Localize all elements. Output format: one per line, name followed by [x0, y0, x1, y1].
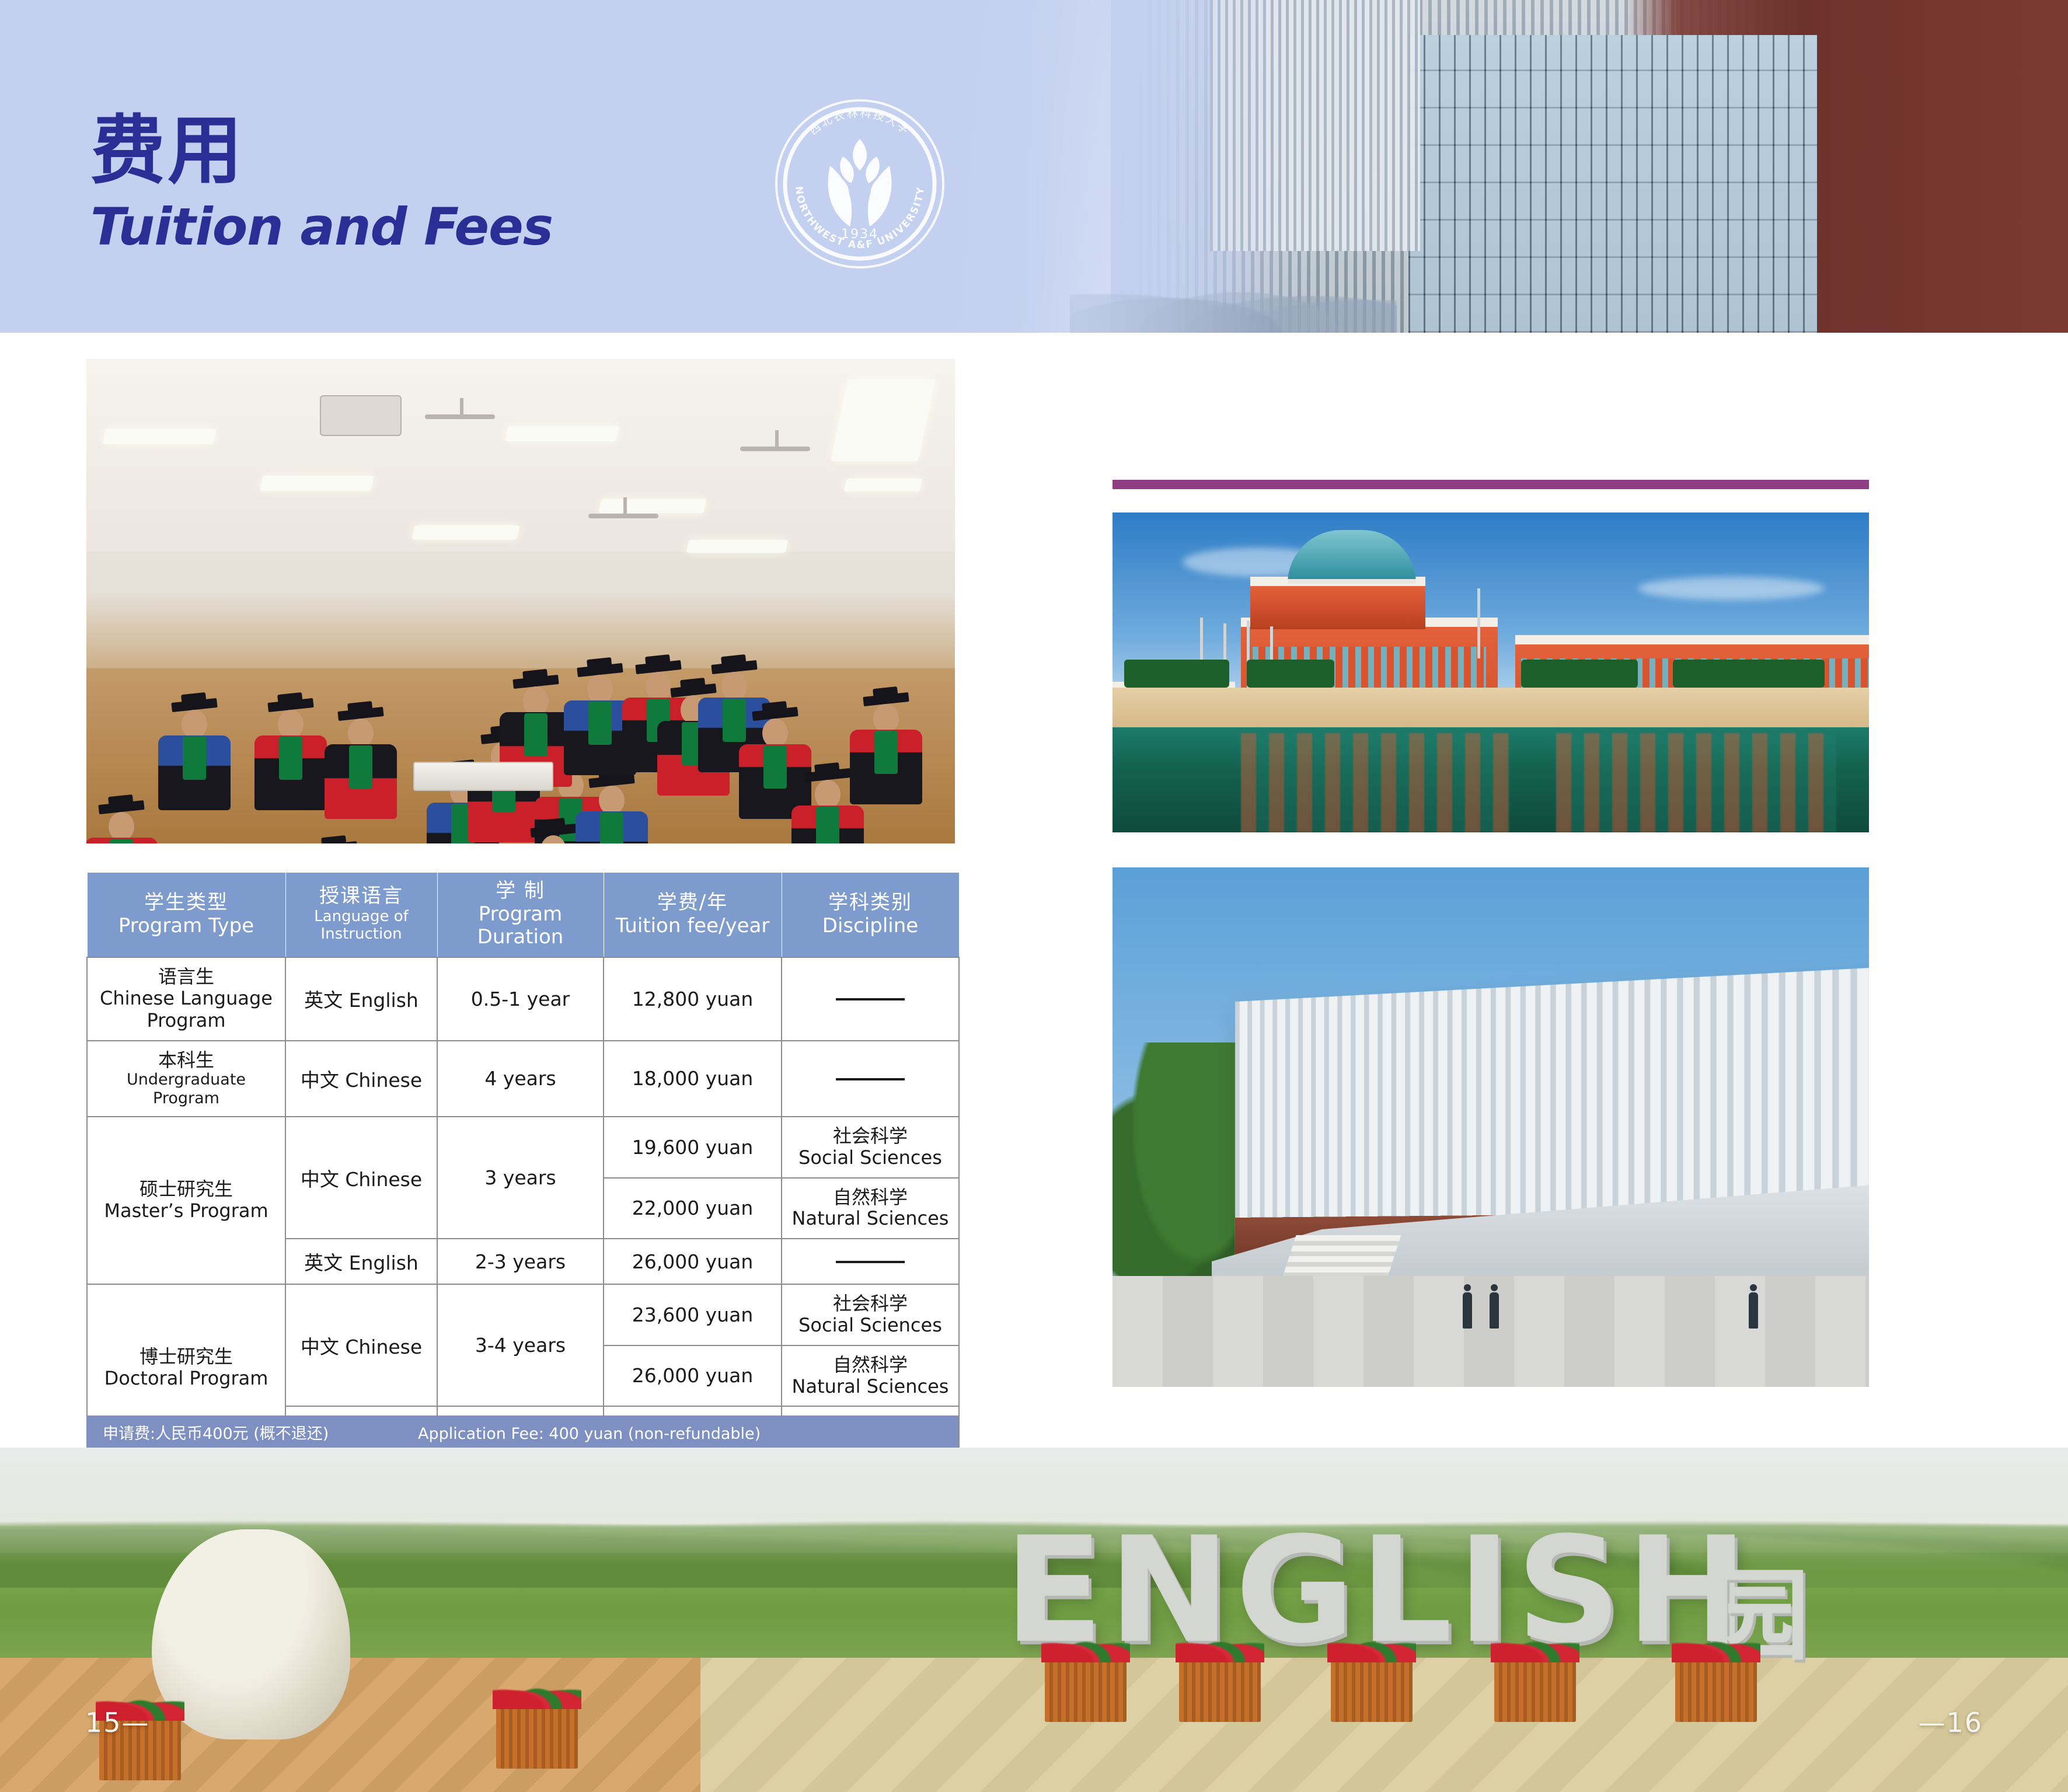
tuition-fee-table: 学生类型 Program Type 授课语言 Language of Instr… — [86, 872, 960, 1452]
table-row: 博士研究生 Doctoral Program 中文 Chinese 3-4 ye… — [87, 1284, 959, 1345]
empty-dash-icon — [836, 998, 905, 1000]
flower-planter — [1331, 1659, 1413, 1722]
page-number-right: —16 — [1918, 1707, 1983, 1738]
discipline-cn: 社会科学 — [786, 1125, 955, 1147]
header-en: Program Type — [90, 915, 283, 937]
program-type-cn: 语言生 — [91, 966, 281, 988]
flower-planter — [496, 1706, 578, 1769]
header-cn: 学费/年 — [606, 891, 779, 914]
note-application-fee-cn: 申请费:人民币400元 (概不退还) — [103, 1422, 402, 1447]
campus-landscape-photo: ENGLISH 园 — [0, 1448, 2068, 1792]
cell-duration: 3-4 years — [437, 1284, 604, 1406]
cell-language: 中文 Chinese — [285, 1041, 437, 1117]
cell-duration: 3 years — [437, 1117, 604, 1239]
cell-discipline: 社会科学 Social Sciences — [782, 1284, 959, 1345]
flower-planter — [1494, 1659, 1576, 1722]
header-cn: 学生类型 — [90, 891, 283, 914]
column-header-program-type: 学生类型 Program Type — [87, 873, 285, 958]
program-type-en: Master’s Program — [91, 1200, 281, 1222]
header-cn: 授课语言 — [288, 885, 435, 907]
column-header-tuition: 学费/年 Tuition fee/year — [604, 873, 782, 958]
program-type-en: Undergraduate Program — [91, 1071, 281, 1108]
discipline-cn: 自然科学 — [786, 1187, 955, 1208]
column-header-duration: 学 制 Program Duration — [437, 873, 604, 958]
header-en: Discipline — [784, 915, 957, 937]
cell-tuition: 26,000 yuan — [604, 1239, 782, 1284]
campus-main-building-photo — [1113, 513, 1869, 832]
cell-program-type: 本科生 Undergraduate Program — [87, 1041, 285, 1117]
campus-library-building-photo — [1113, 867, 1869, 1387]
discipline-en: Social Sciences — [786, 1147, 955, 1169]
empty-dash-icon — [836, 1078, 905, 1080]
note-application-fee-en: Application Fee: 400 yuan (non-refundabl… — [418, 1422, 944, 1447]
cell-program-type: 语言生 Chinese Language Program — [87, 957, 285, 1040]
discipline-en: Natural Sciences — [786, 1208, 955, 1230]
cell-tuition: 22,000 yuan — [604, 1178, 782, 1239]
table-row: 硕士研究生 Master’s Program 中文 Chinese 3 year… — [87, 1117, 959, 1178]
cell-discipline: 自然科学 Natural Sciences — [782, 1178, 959, 1239]
cell-tuition: 23,600 yuan — [604, 1284, 782, 1345]
header-en: Tuition fee/year — [606, 915, 779, 937]
program-type-cn: 本科生 — [91, 1050, 281, 1071]
cell-discipline — [782, 1239, 959, 1284]
page-title-cn: 费用 — [90, 114, 553, 189]
table-header-row: 学生类型 Program Type 授课语言 Language of Instr… — [87, 873, 959, 958]
cell-duration: 2-3 years — [437, 1239, 604, 1284]
program-type-en: Chinese Language Program — [91, 988, 281, 1032]
flower-planter — [1045, 1659, 1127, 1722]
cell-discipline — [782, 957, 959, 1040]
cell-discipline: 社会科学 Social Sciences — [782, 1117, 959, 1178]
column-header-language: 授课语言 Language of Instruction — [285, 873, 437, 958]
cell-language: 中文 Chinese — [285, 1117, 437, 1239]
svg-text:西北农林科技大学: 西北农林科技大学 — [807, 107, 912, 138]
program-type-cn: 博士研究生 — [91, 1346, 281, 1368]
cell-program-type: 硕士研究生 Master’s Program — [87, 1117, 285, 1284]
header-building-photo — [924, 0, 2068, 333]
university-logo-icon: 1934 西北农林科技大学 NORTHWEST A&F UNIVERSITY — [769, 93, 950, 274]
discipline-cn: 社会科学 — [786, 1293, 955, 1315]
header-cn: 学科类别 — [784, 891, 957, 914]
header-en: Language of Instruction — [288, 908, 435, 943]
cell-discipline — [782, 1041, 959, 1117]
cell-tuition: 19,600 yuan — [604, 1117, 782, 1178]
cell-language: 英文 English — [285, 957, 437, 1040]
table-row: 语言生 Chinese Language Program 英文 English … — [87, 957, 959, 1040]
purple-divider-rule — [1113, 480, 1869, 489]
cell-language: 中文 Chinese — [285, 1284, 437, 1406]
discipline-en: Social Sciences — [786, 1315, 955, 1337]
table-row: 本科生 Undergraduate Program 中文 Chinese 4 y… — [87, 1041, 959, 1117]
page-number-left: 15— — [85, 1707, 150, 1738]
header-cn: 学 制 — [440, 880, 601, 902]
header-en: Program Duration — [440, 903, 601, 949]
page-title: 费用 Tuition and Fees — [90, 114, 553, 253]
cell-tuition: 12,800 yuan — [604, 957, 782, 1040]
graduation-group-photo — [86, 359, 955, 843]
brochure-page: 费用 Tuition and Fees — [0, 0, 2068, 1792]
page-header: 费用 Tuition and Fees — [0, 0, 2068, 333]
cell-discipline: 自然科学 Natural Sciences — [782, 1345, 959, 1407]
cell-tuition: 18,000 yuan — [604, 1041, 782, 1117]
program-type-en: Doctoral Program — [91, 1368, 281, 1390]
discipline-cn: 自然科学 — [786, 1354, 955, 1376]
page-title-en: Tuition and Fees — [90, 201, 553, 253]
cell-tuition: 26,000 yuan — [604, 1345, 782, 1407]
cell-duration: 4 years — [437, 1041, 604, 1117]
empty-dash-icon — [836, 1261, 905, 1263]
program-type-cn: 硕士研究生 — [91, 1179, 281, 1200]
discipline-en: Natural Sciences — [786, 1376, 955, 1398]
flower-planter — [1675, 1659, 1757, 1722]
column-header-discipline: 学科类别 Discipline — [782, 873, 959, 958]
flower-planter — [1179, 1659, 1261, 1722]
cell-duration: 0.5-1 year — [437, 957, 604, 1040]
cell-language: 英文 English — [285, 1239, 437, 1284]
